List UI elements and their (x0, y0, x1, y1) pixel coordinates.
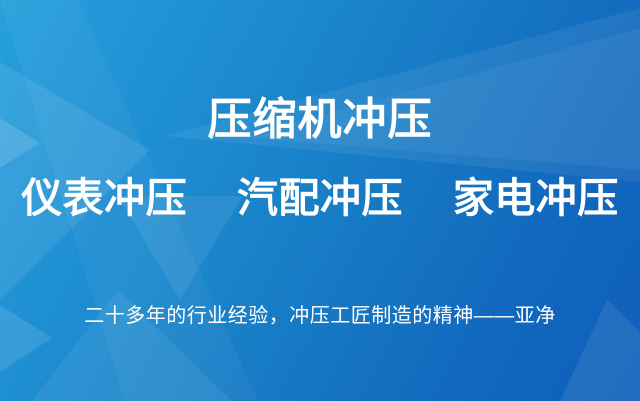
banner-tagline: 二十多年的行业经验，冲压工匠制造的精神——亚净 (0, 302, 640, 330)
banner-category-row: 仪表冲压 汽配冲压 家电冲压 (0, 173, 640, 223)
banner-category-2: 汽配冲压 (237, 175, 403, 221)
promo-banner: 压缩机冲压 仪表冲压 汽配冲压 家电冲压 二十多年的行业经验，冲压工匠制造的精神… (0, 0, 640, 401)
banner-category-3: 家电冲压 (453, 175, 619, 221)
banner-category-1: 仪表冲压 (21, 175, 187, 221)
banner-headline: 压缩机冲压 (0, 94, 640, 146)
banner-content: 压缩机冲压 仪表冲压 汽配冲压 家电冲压 二十多年的行业经验，冲压工匠制造的精神… (0, 0, 640, 401)
